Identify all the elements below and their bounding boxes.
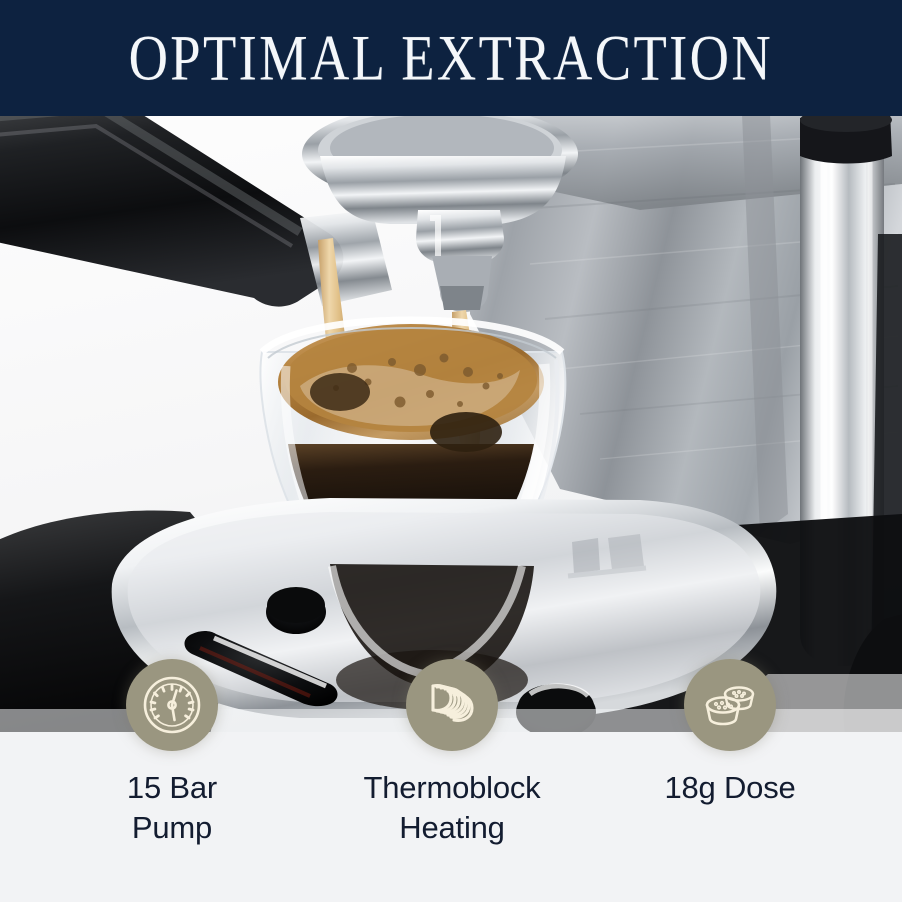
header-banner: OPTIMAL EXTRACTION bbox=[0, 0, 902, 116]
feature-label-pump: 15 Bar Pump bbox=[52, 768, 292, 847]
pressure-gauge-icon bbox=[141, 674, 203, 736]
feature-strip: 15 Bar Pump Thermoblock Heating 18g Dose bbox=[0, 732, 902, 902]
feature-label-line2: Heating bbox=[332, 808, 572, 848]
product-feature-card: OPTIMAL EXTRACTION bbox=[0, 0, 902, 902]
feature-label-line1: Thermoblock bbox=[332, 768, 572, 808]
filter-baskets-icon bbox=[699, 674, 761, 736]
filter-basket-front bbox=[707, 698, 739, 725]
feature-badge-thermoblock bbox=[406, 659, 498, 751]
page-title: OPTIMAL EXTRACTION bbox=[129, 26, 774, 91]
espresso-machine-illustration bbox=[0, 114, 902, 734]
feature-label-thermoblock: Thermoblock Heating bbox=[332, 768, 572, 847]
feature-badge-dose bbox=[684, 659, 776, 751]
product-photo bbox=[0, 114, 902, 734]
spout-block bbox=[416, 210, 504, 264]
feature-label-line2: Pump bbox=[52, 808, 292, 848]
feature-label-line1: 15 Bar bbox=[52, 768, 292, 808]
feature-label-dose: 18g Dose bbox=[610, 768, 850, 808]
feature-label-line1: 18g Dose bbox=[610, 768, 850, 808]
heating-coil-icon bbox=[421, 674, 483, 736]
feature-badge-pump bbox=[126, 659, 218, 751]
